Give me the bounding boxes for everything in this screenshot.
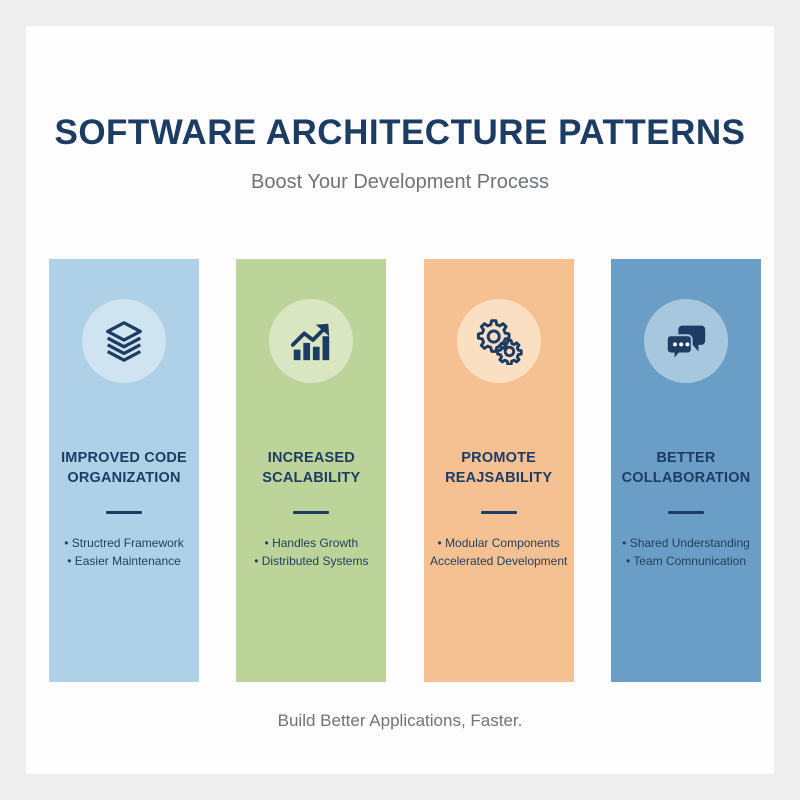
icon-circle-3 [457, 299, 541, 383]
icon-circle-4 [644, 299, 728, 383]
bullet-dot-icon: • [622, 536, 626, 550]
bullet-label: Easier Maintenance [75, 554, 181, 568]
bullet-dot-icon: • [265, 536, 269, 550]
footer: Build Better Applications, Faster. [26, 711, 774, 731]
list-item: • Handles Growth [238, 534, 384, 552]
bullet-dot-icon: • [626, 554, 630, 568]
bullet-dot-icon: • [67, 554, 71, 568]
pattern-columns: IMPROVED CODE ORGANIZATION • Structred F… [49, 259, 761, 682]
list-item: Accelerated Development [426, 552, 572, 570]
gears-icon [475, 317, 523, 365]
header: SOFTWARE ARCHITECTURE PATTERNS Boost You… [26, 114, 774, 194]
bullet-label: Team Comnunication [633, 554, 746, 568]
growth-chart-icon [288, 318, 334, 364]
column-title-4: BETTER COLLABORATION [617, 449, 755, 488]
column-improved-code-organization: IMPROVED CODE ORGANIZATION • Structred F… [49, 259, 199, 682]
column-better-collaboration: BETTER COLLABORATION • Shared Understand… [611, 259, 761, 682]
column-bullets-4: • Shared Understanding • Team Comnunicat… [613, 534, 759, 570]
chat-bubbles-icon [663, 318, 709, 364]
bullet-dot-icon: • [438, 536, 442, 550]
footer-tagline: Build Better Applications, Faster. [26, 711, 774, 731]
layers-stack-icon [101, 318, 147, 364]
bullet-label: Structred Framework [72, 536, 184, 550]
list-item: • Modular Components [426, 534, 572, 552]
list-item: • Team Comnunication [613, 552, 759, 570]
page-subtitle: Boost Your Development Process [26, 153, 774, 194]
column-divider-3 [481, 511, 517, 514]
bullet-label: Accelerated Development [430, 554, 567, 568]
icon-circle-1 [82, 299, 166, 383]
icon-circle-2 [269, 299, 353, 383]
column-bullets-1: • Structred Framework • Easier Maintenan… [51, 534, 197, 570]
page-title: SOFTWARE ARCHITECTURE PATTERNS [26, 114, 774, 153]
list-item: • Structred Framework [51, 534, 197, 552]
bullet-dot-icon: • [254, 554, 258, 568]
column-promote-reusability: PROMOTE REAJSABILITY • Modular Component… [424, 259, 574, 682]
column-title-1: IMPROVED CODE ORGANIZATION [55, 449, 193, 488]
column-divider-1 [106, 511, 142, 514]
bullet-label: Modular Components [445, 536, 560, 550]
column-divider-4 [668, 511, 704, 514]
column-title-2: INCREASED SCALABILITY [242, 449, 380, 488]
column-title-3: PROMOTE REAJSABILITY [430, 449, 568, 488]
bullet-label: Handles Growth [272, 536, 358, 550]
column-increased-scalability: INCREASED SCALABILITY • Handles Growth •… [236, 259, 386, 682]
column-divider-2 [293, 511, 329, 514]
column-bullets-2: • Handles Growth • Distributed Systems [238, 534, 384, 570]
infographic-card: SOFTWARE ARCHITECTURE PATTERNS Boost You… [26, 26, 774, 774]
list-item: • Distributed Systems [238, 552, 384, 570]
list-item: • Shared Understanding [613, 534, 759, 552]
bullet-label: Shared Understanding [630, 536, 750, 550]
bullet-dot-icon: • [64, 536, 68, 550]
column-bullets-3: • Modular Components Accelerated Develop… [426, 534, 572, 570]
list-item: • Easier Maintenance [51, 552, 197, 570]
bullet-label: Distributed Systems [262, 554, 369, 568]
